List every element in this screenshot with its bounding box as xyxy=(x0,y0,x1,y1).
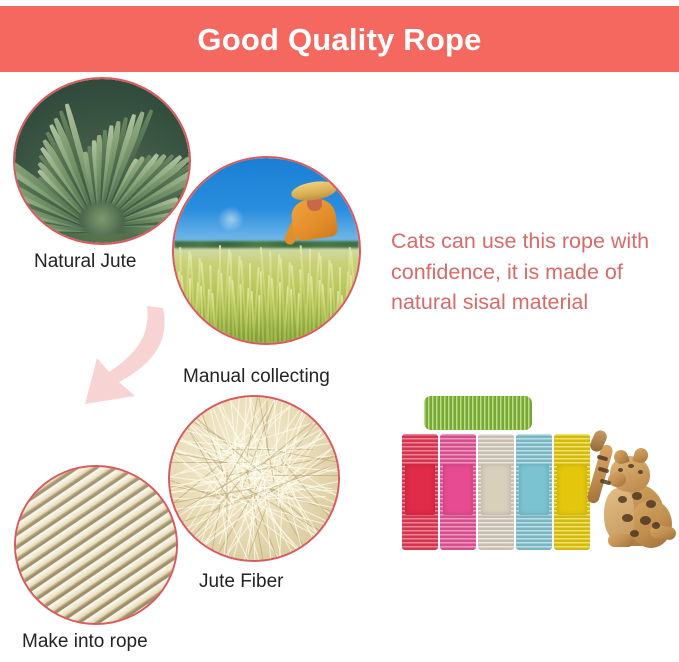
blue-rope-bundle xyxy=(516,434,552,550)
step-image-jute-fiber xyxy=(168,395,340,562)
bengal-cat xyxy=(584,422,674,562)
agave-plant-illustration xyxy=(15,79,189,243)
loose-fiber-illustration xyxy=(170,397,338,560)
step-caption-make-into-rope: Make into rope xyxy=(22,632,148,653)
product-photo xyxy=(388,392,670,588)
pink-rope-bundle xyxy=(440,434,476,550)
page-title: Good Quality Rope xyxy=(197,24,481,55)
harvest-field-illustration xyxy=(174,158,359,343)
green-rope-bundle xyxy=(424,396,532,430)
cream-rope-bundle xyxy=(478,434,514,550)
step-image-natural-jute xyxy=(13,77,191,245)
twisted-rope-illustration xyxy=(16,467,176,623)
red-rope-bundle xyxy=(402,434,438,550)
infographic-poster: Good Quality Rope Natural Jute Manual co… xyxy=(0,0,679,662)
step-caption-manual-collecting: Manual collecting xyxy=(183,367,330,388)
marketing-copy: Cats can use this rope with confidence, … xyxy=(391,226,667,318)
step-image-make-into-rope xyxy=(14,465,178,625)
process-flow-arrow-icon xyxy=(75,300,195,420)
header-banner: Good Quality Rope xyxy=(0,6,679,72)
step-caption-natural-jute: Natural Jute xyxy=(34,252,136,273)
step-image-manual-collecting xyxy=(172,156,361,345)
step-caption-jute-fiber: Jute Fiber xyxy=(199,572,283,593)
